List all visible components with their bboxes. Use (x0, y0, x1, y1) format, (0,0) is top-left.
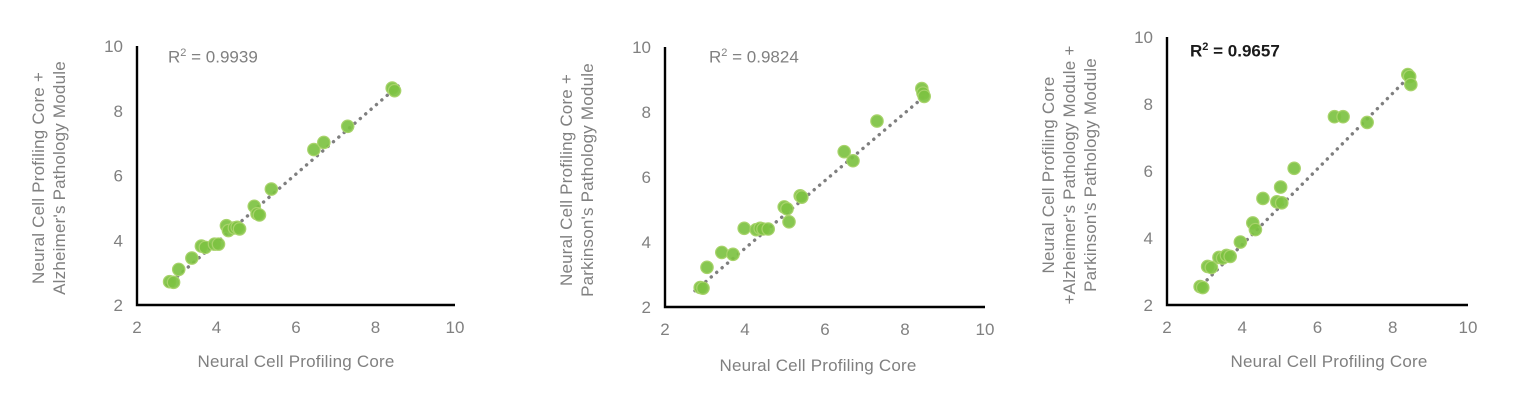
trendline (167, 85, 400, 286)
x-tick-label: 6 (820, 320, 829, 339)
y-tick-label: 6 (114, 167, 123, 186)
scatter-panel-2: 246810246810 Neural Cell Profiling Core … (512, 0, 1024, 416)
data-point (783, 216, 795, 228)
data-point (173, 263, 185, 275)
data-point (341, 120, 353, 132)
data-point (716, 246, 728, 258)
data-point (918, 90, 930, 102)
data-point (318, 136, 330, 148)
data-point (1361, 116, 1373, 128)
data-point (697, 282, 709, 294)
x-tick-label: 2 (1162, 318, 1171, 337)
y-axis-label-line: Alzheimer's Pathology Module (49, 28, 70, 328)
r-squared-value: 0.9657 (1228, 42, 1280, 61)
y-axis-label-3: Neural Cell Profiling Core +Alzheimer's … (1038, 20, 1101, 330)
x-tick-label: 2 (132, 318, 141, 337)
y-tick-label: 2 (642, 298, 651, 317)
r-squared-value: 0.9939 (206, 48, 258, 67)
x-tick-label: 4 (1238, 318, 1247, 337)
y-axis-label-line: +Alzheimer's Pathology Module + (1059, 20, 1080, 330)
scatter-panel-1: 246810246810 Neural Cell Profiling Core … (0, 0, 512, 416)
data-point (167, 276, 179, 288)
x-tick-label: 6 (1313, 318, 1322, 337)
x-tick-label: 4 (740, 320, 749, 339)
y-axis-label-line: Neural Cell Profiling Core + (556, 30, 577, 330)
data-point (1274, 181, 1286, 193)
r-squared-annotation-1: R2 = 0.9939 (168, 47, 258, 68)
y-tick-label: 6 (1144, 162, 1153, 181)
data-point (701, 261, 713, 273)
x-tick-label: 10 (1459, 318, 1478, 337)
y-axis-label-line: Neural Cell Profiling Core (1038, 20, 1059, 330)
y-tick-label: 8 (1144, 95, 1153, 114)
data-point (253, 209, 265, 221)
x-tick-label: 10 (446, 318, 465, 337)
x-tick-label: 8 (900, 320, 909, 339)
y-tick-label: 6 (642, 168, 651, 187)
data-point (871, 115, 883, 127)
y-tick-label: 4 (642, 233, 651, 252)
y-tick-label: 10 (1134, 28, 1153, 47)
scatter-plot-figure: 246810246810 Neural Cell Profiling Core … (0, 0, 1536, 416)
data-point (1257, 192, 1269, 204)
data-point (847, 155, 859, 167)
y-tick-label: 2 (1144, 296, 1153, 315)
y-axis-label-1: Neural Cell Profiling Core + Alzheimer's… (28, 28, 70, 328)
r-squared-annotation-2: R2 = 0.9824 (709, 47, 799, 68)
data-point (1337, 111, 1349, 123)
data-point (1224, 250, 1236, 262)
x-tick-label: 10 (976, 320, 995, 339)
data-point (388, 84, 400, 96)
data-point (762, 223, 774, 235)
y-tick-label: 8 (114, 102, 123, 121)
x-tick-label: 2 (660, 320, 669, 339)
r-squared-annotation-3: R2 = 0.9657 (1190, 41, 1280, 62)
data-point (1234, 236, 1246, 248)
y-tick-label: 10 (104, 37, 123, 56)
x-axis-label-3: Neural Cell Profiling Core (1169, 352, 1489, 372)
data-point (727, 248, 739, 260)
r-squared-value: 0.9824 (747, 48, 799, 67)
y-tick-label: 4 (1144, 229, 1153, 248)
data-point (738, 222, 750, 234)
y-axis-label-2: Neural Cell Profiling Core + Parkinson's… (556, 30, 598, 330)
y-tick-label: 8 (642, 103, 651, 122)
x-tick-label: 6 (291, 318, 300, 337)
x-tick-label: 8 (1388, 318, 1397, 337)
y-tick-label: 10 (632, 38, 651, 57)
data-point (186, 252, 198, 264)
data-point (1249, 223, 1261, 235)
x-axis-label-2: Neural Cell Profiling Core (648, 356, 988, 376)
data-point (1197, 281, 1209, 293)
y-tick-label: 4 (114, 231, 123, 250)
data-point (212, 238, 224, 250)
y-tick-label: 2 (114, 296, 123, 315)
x-tick-label: 8 (371, 318, 380, 337)
data-point (265, 183, 277, 195)
data-point (781, 203, 793, 215)
y-axis-label-line: Neural Cell Profiling Core + (28, 28, 49, 328)
scatter-panel-3: 246810246810 Neural Cell Profiling Core … (1024, 0, 1536, 416)
data-point (1405, 78, 1417, 90)
y-axis-label-line: Parkinson's Pathology Module (577, 30, 598, 330)
x-tick-label: 4 (212, 318, 221, 337)
data-point (796, 191, 808, 203)
data-point (1288, 162, 1300, 174)
data-point (233, 223, 245, 235)
y-axis-label-line: Parkinson's Pathology Module (1080, 20, 1101, 330)
trendline (695, 93, 929, 291)
x-axis-label-1: Neural Cell Profiling Core (126, 352, 466, 372)
data-point (1276, 197, 1288, 209)
